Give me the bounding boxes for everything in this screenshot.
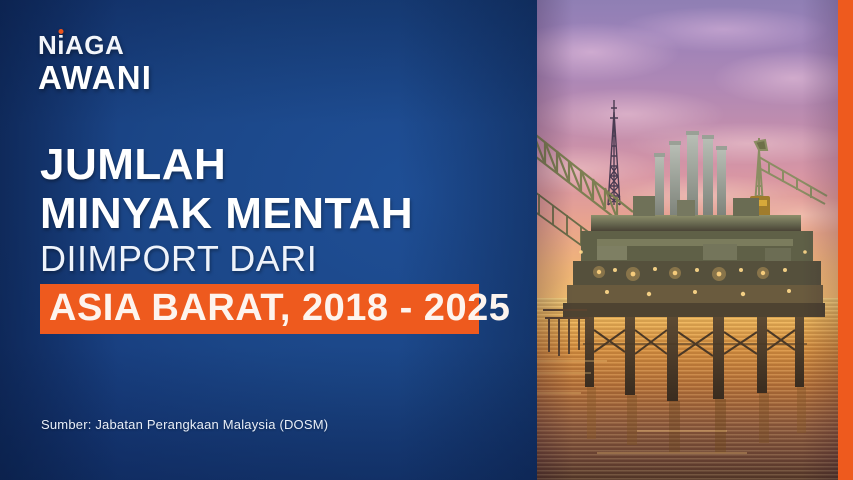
crane <box>755 138 827 205</box>
comm-mast <box>608 100 620 205</box>
platform-deck <box>563 196 825 317</box>
leg-bracing <box>583 330 807 356</box>
headline-line-3: DIIMPORT DARI <box>40 241 479 277</box>
source-attribution: Sumber: Jabatan Perangkaan Malaysia (DOS… <box>41 417 328 432</box>
logo-line-niaga: NiAGA <box>38 32 152 58</box>
oil-platform-photo <box>537 0 838 480</box>
oil-rig-illustration <box>537 0 838 480</box>
water-reflection <box>587 387 806 453</box>
headline-highlight-bar: ASIA BARAT, 2018 - 2025 <box>40 284 479 334</box>
headline-line-2: MINYAK MENTAH <box>40 192 479 236</box>
headline-block: JUMLAH MINYAK MENTAH DIIMPORT DARI ASIA … <box>40 143 479 334</box>
logo-letter-i-with-dot: i <box>57 32 65 58</box>
logo-text-n: N <box>38 30 57 60</box>
headline-highlight-wrapper: ASIA BARAT, 2018 - 2025 <box>40 284 479 334</box>
niaga-awani-logo: NiAGA AWANI <box>38 32 152 94</box>
logo-line-awani: AWANI <box>38 61 152 94</box>
infographic-card: NiAGA AWANI JUMLAH MINYAK MENTAH DIIMPOR… <box>0 0 853 480</box>
logo-text-aga: AGA <box>65 30 124 60</box>
headline-line-1: JUMLAH <box>40 143 479 187</box>
support-legs <box>585 317 804 401</box>
accent-edge-stripe <box>838 0 853 480</box>
